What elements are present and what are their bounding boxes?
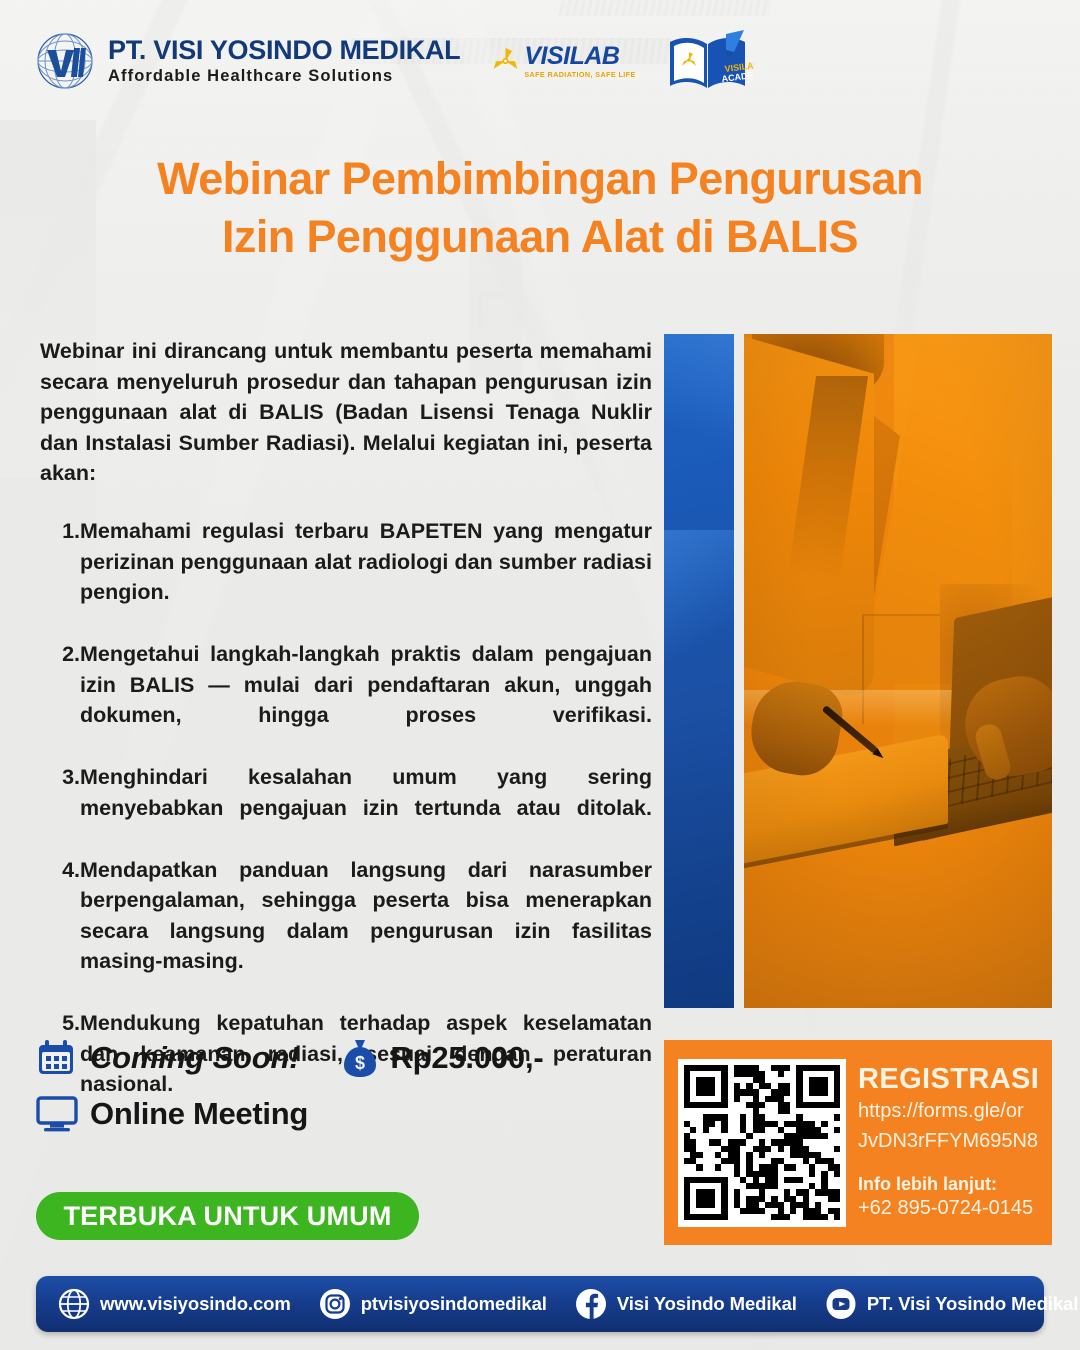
event-info: Coming Soon! $ Rp25.000,- Online Meeting <box>36 1038 646 1132</box>
footer-item-facebook[interactable]: Visi Yosindo Medikal <box>575 1288 797 1320</box>
visilab-logo: VISILAB SAFE RADIATION, SAFE LIFE <box>492 44 635 78</box>
header-logo-bar: PT. VISI YOSINDO MEDIKAL Affordable Heal… <box>36 28 754 94</box>
facebook-icon <box>575 1288 607 1320</box>
money-bag-icon: $ <box>342 1038 378 1078</box>
doctor-laptop-photo <box>744 334 1052 1008</box>
visilab-academy-book-icon: VISILAB ACADEMY <box>664 28 754 94</box>
monitor-icon <box>36 1096 78 1132</box>
footer-item-website[interactable]: www.visiyosindo.com <box>58 1288 291 1320</box>
list-item-number: 1. <box>56 516 80 638</box>
visilab-tagline: SAFE RADIATION, SAFE LIFE <box>524 71 635 78</box>
svg-text:$: $ <box>355 1053 365 1073</box>
list-item-text: Menghindari kesalahan umum yang sering m… <box>80 762 652 854</box>
list-item: 1. Memahami regulasi terbaru BAPETEN yan… <box>56 516 652 638</box>
footer-item-youtube[interactable]: PT. Visi Yosindo Medikal <box>825 1288 1078 1320</box>
photo-accent-bar <box>664 334 734 1008</box>
list-item-text: Mendapatkan panduan langsung dari narasu… <box>80 855 652 1008</box>
hero-photo <box>664 334 1052 1008</box>
brand-name: PT. VISI YOSINDO MEDIKAL <box>108 37 460 64</box>
list-item-number: 4. <box>56 855 80 1008</box>
footer-website-label: www.visiyosindo.com <box>100 1293 291 1315</box>
registration-card: REGISTRASI https://forms.gle/or JvDN3rFF… <box>664 1040 1052 1245</box>
radiation-trefoil-icon <box>492 47 519 75</box>
registration-url-line-1[interactable]: https://forms.gle/or <box>858 1099 1039 1124</box>
contact-info-label: Info lebih lanjut: <box>858 1174 1039 1196</box>
footer-instagram-label: ptvisiyosindomedikal <box>361 1293 547 1315</box>
calendar-icon <box>36 1038 76 1078</box>
event-date-label: Coming Soon! <box>90 1040 299 1076</box>
registration-url-line-2[interactable]: JvDN3rFFYM695N8 <box>858 1129 1039 1154</box>
registration-title: REGISTRASI <box>858 1064 1039 1094</box>
list-item-number: 3. <box>56 762 80 854</box>
event-price-label: Rp25.000,- <box>390 1040 543 1076</box>
page-title: Webinar Pembimbingan Pengurusan Izin Pen… <box>0 150 1080 265</box>
intro-paragraph: Webinar ini dirancang untuk membantu pes… <box>40 336 652 489</box>
list-item-text: Mengetahui langkah-langkah praktis dalam… <box>80 639 652 761</box>
list-item: 2. Mengetahui langkah-langkah praktis da… <box>56 639 652 761</box>
globe-icon <box>58 1288 90 1320</box>
status-badge: TERBUKA UNTUK UMUM <box>36 1192 419 1240</box>
youtube-icon <box>825 1288 857 1320</box>
instagram-icon <box>319 1288 351 1320</box>
visilab-name: VISILAB <box>524 44 635 69</box>
globe-vy-monogram-icon <box>36 32 94 90</box>
list-item: 3. Menghindari kesalahan umum yang serin… <box>56 762 652 854</box>
brand-tagline: Affordable Healthcare Solutions <box>108 68 460 85</box>
contact-phone[interactable]: +62 895-0724-0145 <box>858 1196 1039 1221</box>
qr-code-icon[interactable] <box>678 1059 846 1227</box>
title-line-1: Webinar Pembimbingan Pengurusan <box>0 150 1080 208</box>
list-item-text: Memahami regulasi terbaru BAPETEN yang m… <box>80 516 652 638</box>
title-line-2: Izin Penggunaan Alat di BALIS <box>0 208 1080 266</box>
footer-youtube-label: PT. Visi Yosindo Medikal <box>867 1293 1078 1315</box>
list-item-number: 2. <box>56 639 80 761</box>
footer-facebook-label: Visi Yosindo Medikal <box>617 1293 797 1315</box>
footer-item-instagram[interactable]: ptvisiyosindomedikal <box>319 1288 547 1320</box>
status-badge-label: TERBUKA UNTUK UMUM <box>63 1201 391 1232</box>
footer-social-bar: www.visiyosindo.com ptvisiyosindomedikal <box>36 1276 1044 1332</box>
event-venue-label: Online Meeting <box>90 1096 308 1132</box>
list-item: 4. Mendapatkan panduan langsung dari nar… <box>56 855 652 1008</box>
